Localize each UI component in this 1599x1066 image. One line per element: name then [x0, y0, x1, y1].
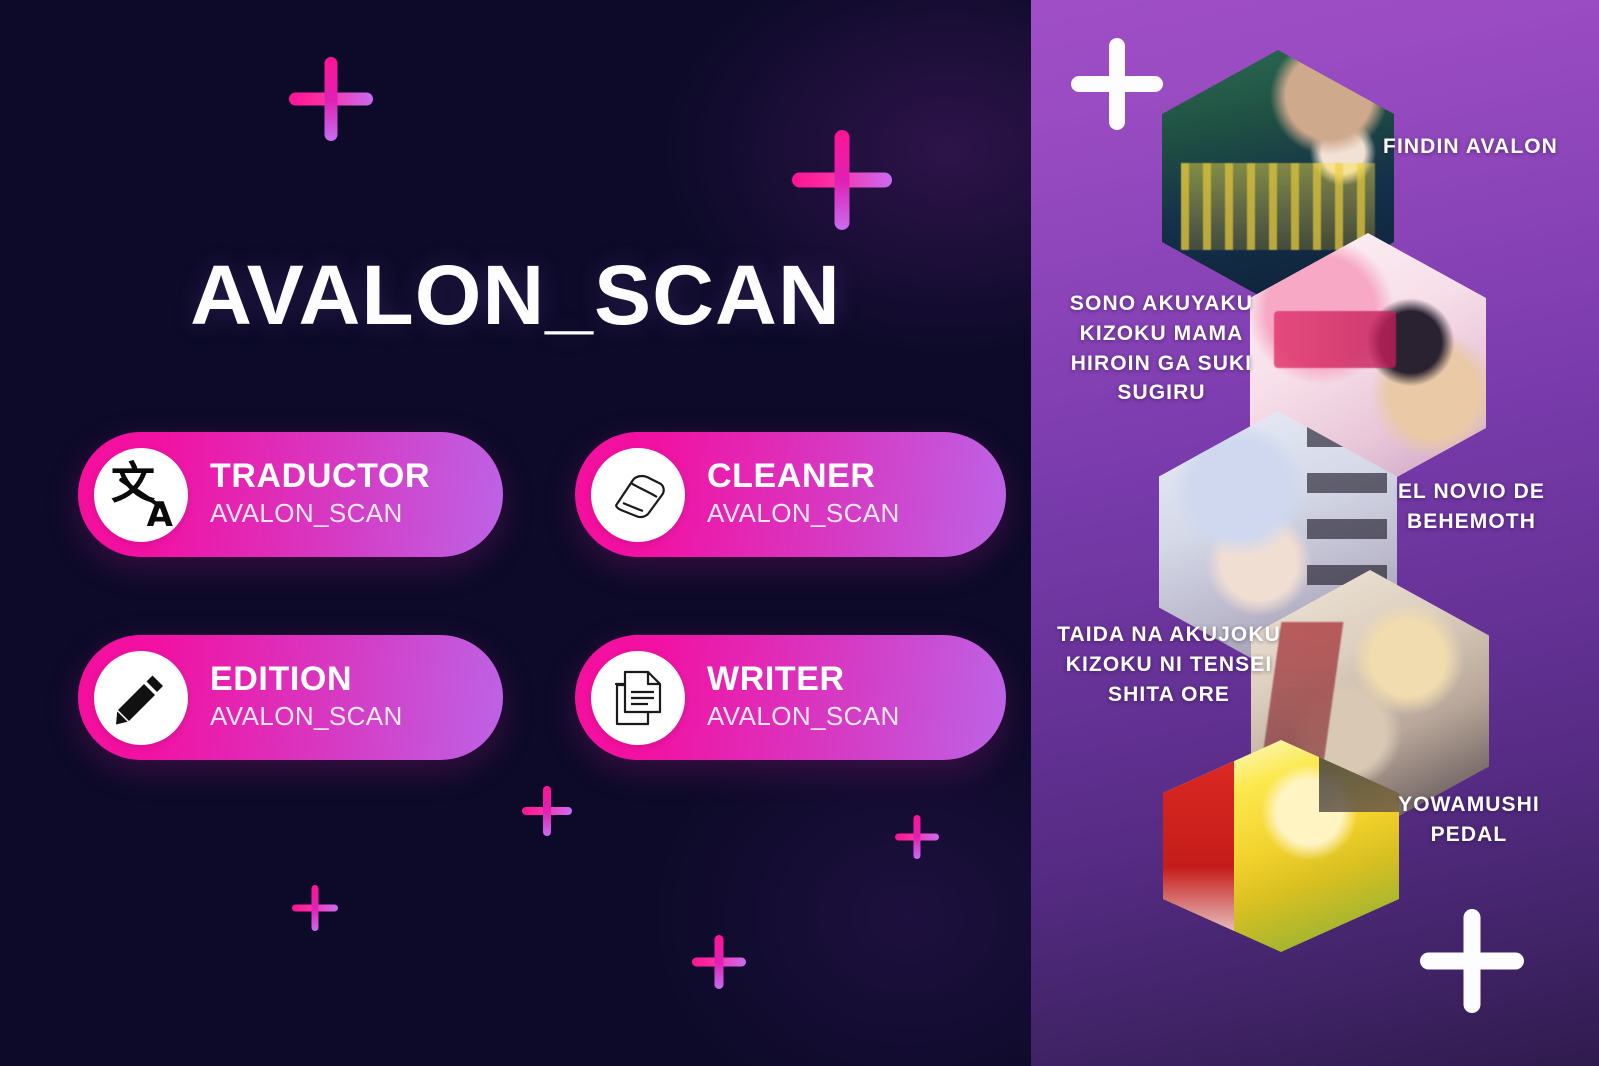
page-title: AVALON_SCAN	[0, 247, 1031, 344]
role-card-cleaner[interactable]: CLEANER AVALON_SCAN	[575, 432, 1006, 557]
pencil-icon	[94, 651, 188, 745]
role-title: WRITER	[707, 662, 900, 698]
document-icon	[591, 651, 685, 745]
translate-icon: 文 A	[94, 448, 188, 542]
cover-label: EL NOVIO DE BEHEMOTH	[1369, 477, 1574, 537]
role-subtitle: AVALON_SCAN	[707, 497, 900, 530]
plus-icon	[1071, 38, 1163, 130]
plus-icon	[692, 935, 746, 989]
cover-label: TAIDA NA AKUJOKU KIZOKU NI TENSEI SHITA …	[1055, 620, 1283, 709]
eraser-icon	[591, 448, 685, 542]
roles-grid: 文 A TRADUCTOR AVALON_SCAN	[78, 432, 1008, 760]
left-panel: AVALON_SCAN 文 A TRADUCTOR AVALON_SCAN	[0, 0, 1031, 1066]
role-subtitle: AVALON_SCAN	[210, 700, 403, 733]
role-subtitle: AVALON_SCAN	[707, 700, 900, 733]
translate-icon-latin-glyph: A	[147, 498, 173, 532]
role-card-writer[interactable]: WRITER AVALON_SCAN	[575, 635, 1006, 760]
role-subtitle: AVALON_SCAN	[210, 497, 430, 530]
plus-icon	[1420, 909, 1524, 1013]
plus-icon	[792, 130, 892, 230]
role-card-edition[interactable]: EDITION AVALON_SCAN	[78, 635, 503, 760]
cover-label: FINDIN AVALON	[1368, 132, 1573, 162]
poster-canvas: AVALON_SCAN 文 A TRADUCTOR AVALON_SCAN	[0, 0, 1599, 1066]
role-title: TRADUCTOR	[210, 459, 430, 495]
plus-icon	[895, 815, 939, 859]
plus-icon	[292, 885, 338, 931]
plus-icon	[289, 57, 373, 141]
cover-label: YOWAMUSHI PEDAL	[1363, 790, 1575, 850]
role-title: CLEANER	[707, 459, 900, 495]
role-card-traductor[interactable]: 文 A TRADUCTOR AVALON_SCAN	[78, 432, 503, 557]
right-panel: FINDIN AVALON SONO AKUYAKU KIZOKU MAMA H…	[1031, 0, 1599, 1066]
cover-label: SONO AKUYAKU KIZOKU MAMA HIROIN GA SUKI …	[1049, 289, 1274, 408]
plus-icon	[522, 786, 572, 836]
role-title: EDITION	[210, 662, 403, 698]
